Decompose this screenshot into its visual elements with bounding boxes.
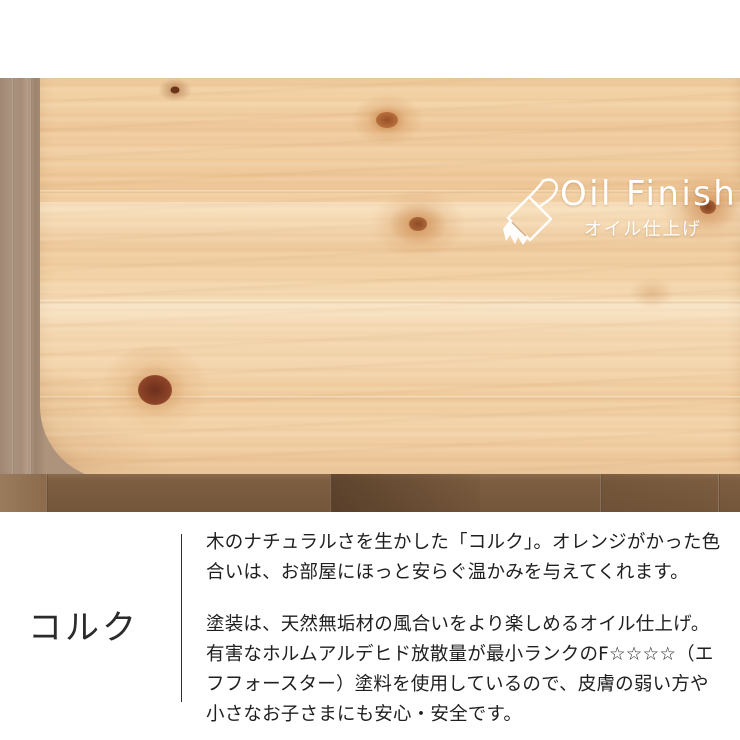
- product-detail-panel: Oil Finish オイル仕上げ コルク 木のナチュラルさを生かした「コルク」…: [0, 0, 740, 740]
- product-photo: Oil Finish オイル仕上げ: [0, 78, 740, 512]
- wood-knot: [158, 78, 192, 102]
- paint-brush-icon: [496, 174, 570, 252]
- floor-left-planks: [0, 78, 44, 512]
- caption-section: コルク 木のナチュラルさを生かした「コルク」。オレンジがかった色合いは、お部屋に…: [0, 512, 740, 740]
- wood-knot: [352, 94, 422, 146]
- oil-finish-badge: Oil Finish オイル仕上げ: [488, 170, 738, 256]
- caption-paragraph: 木のナチュラルさを生かした「コルク」。オレンジがかった色合いは、お部屋にほっと安…: [206, 528, 726, 588]
- page-title: コルク: [28, 600, 139, 649]
- top-white-band: [0, 0, 740, 78]
- vertical-divider: [181, 534, 182, 702]
- badge-title-en: Oil Finish: [560, 174, 737, 214]
- wood-knot: [370, 188, 466, 260]
- floor-bottom-planks: [0, 474, 740, 512]
- table-top-surface: [40, 78, 740, 480]
- wood-knot: [630, 278, 674, 308]
- caption-paragraph: 塗装は、天然無垢材の風合いをより楽しめるオイル仕上げ。有害なホルムアルデヒド放散…: [206, 610, 726, 730]
- caption-body: 木のナチュラルさを生かした「コルク」。オレンジがかった色合いは、お部屋にほっと安…: [206, 528, 726, 730]
- badge-title-jp: オイル仕上げ: [584, 218, 702, 242]
